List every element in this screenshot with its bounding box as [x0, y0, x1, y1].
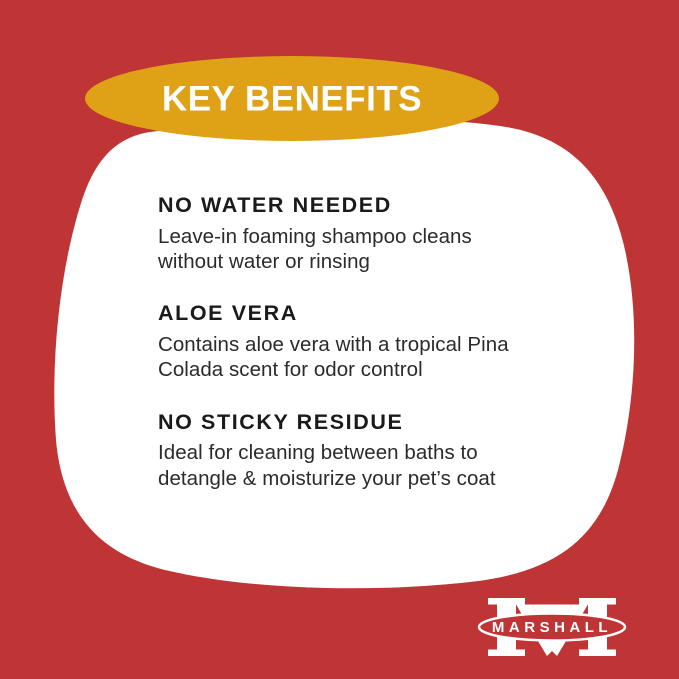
product-benefits-poster: KEY BENEFITS NO WATER NEEDED Leave-in fo…	[0, 0, 679, 679]
marshall-brand-logo: MARSHALL	[476, 594, 628, 662]
key-benefits-banner-label: KEY BENEFITS	[85, 81, 499, 116]
benefit-title: NO STICKY RESIDUE	[158, 409, 588, 437]
benefit-description-line: Colada scent for odor control	[158, 357, 588, 382]
benefit-item: NO STICKY RESIDUE Ideal for cleaning bet…	[158, 409, 588, 491]
benefit-title: ALOE VERA	[158, 300, 588, 328]
benefit-description: Leave-in foaming shampoo cleans without …	[158, 224, 588, 275]
benefit-description-line: Leave-in foaming shampoo cleans	[158, 224, 588, 249]
benefit-description: Contains aloe vera with a tropical Pina …	[158, 332, 588, 383]
benefit-item: ALOE VERA Contains aloe vera with a trop…	[158, 300, 588, 382]
key-benefits-banner: KEY BENEFITS	[85, 56, 499, 141]
marshall-wordmark: MARSHALL	[492, 619, 612, 636]
benefits-list: NO WATER NEEDED Leave-in foaming shampoo…	[158, 192, 588, 491]
benefit-description-line: Contains aloe vera with a tropical Pina	[158, 332, 588, 357]
benefit-title: NO WATER NEEDED	[158, 192, 588, 220]
benefit-description-line: without water or rinsing	[158, 249, 588, 274]
benefit-description-line: Ideal for cleaning between baths to	[158, 440, 588, 465]
benefit-item: NO WATER NEEDED Leave-in foaming shampoo…	[158, 192, 588, 274]
benefit-description-line: detangle & moisturize your pet’s coat	[158, 466, 588, 491]
benefit-description: Ideal for cleaning between baths to deta…	[158, 440, 588, 491]
